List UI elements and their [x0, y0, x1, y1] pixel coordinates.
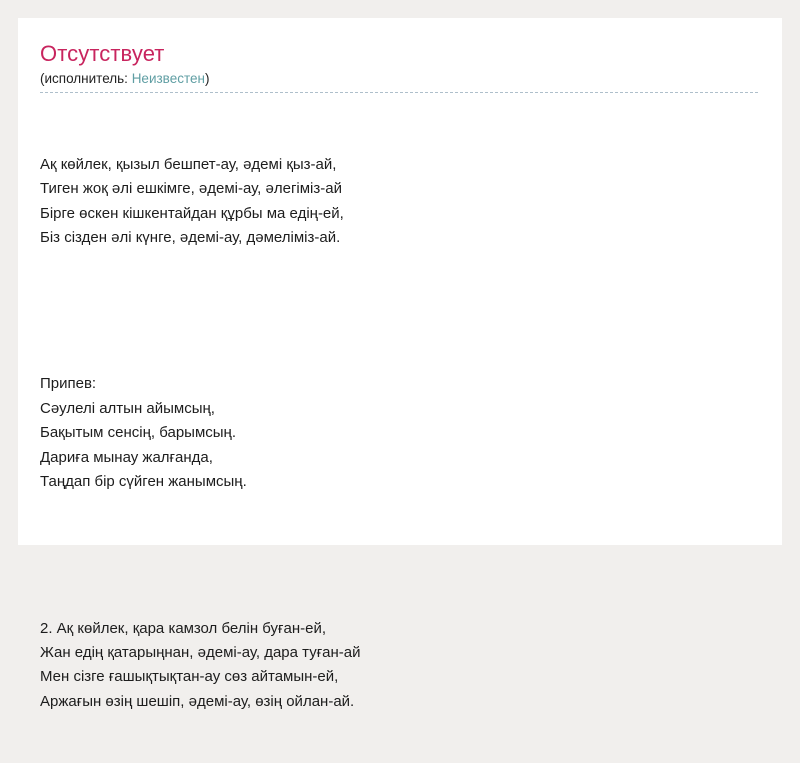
artist-line: (исполнитель: Неизвестен) [38, 67, 762, 87]
lyrics-text: Ақ көйлек, қызыл бешпет-ау, әдемі қыз-ай… [38, 93, 762, 763]
artist-name-link[interactable]: Неизвестен [132, 71, 205, 86]
artist-label: (исполнитель: [40, 71, 132, 86]
page-background: Отсутствует (исполнитель: Неизвестен) Ақ… [0, 0, 800, 600]
lyrics-stanza: Ақ көйлек, қызыл бешпет-ау, әдемі қыз-ай… [40, 153, 762, 251]
page-title: Отсутствует [38, 40, 762, 67]
lyrics-stanza: 2. Ақ көйлек, қара камзол белін буған-ей… [40, 617, 762, 715]
stanza-spacer [40, 299, 762, 323]
artist-close-paren: ) [205, 71, 210, 86]
lyrics-stanza: Припев: Сәулелі алтын айымсың, Бақытым с… [40, 372, 762, 494]
stanza-spacer [40, 543, 762, 567]
lyrics-card: Отсутствует (исполнитель: Неизвестен) Ақ… [18, 18, 782, 545]
